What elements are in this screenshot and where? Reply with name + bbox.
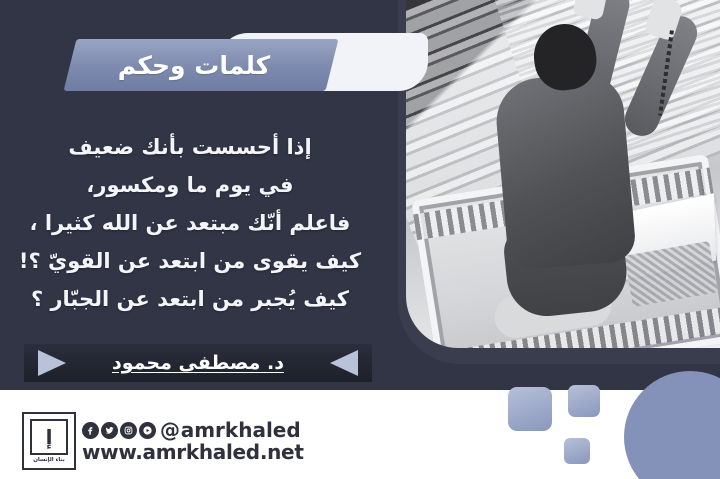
- footer-branding: ﺇ بناء الإنسان @amrkhaled www.amrkhaled.: [22, 412, 304, 470]
- brand-logo: ﺇ بناء الإنسان: [22, 412, 76, 470]
- social-handle-row: @amrkhaled: [82, 420, 304, 441]
- decorative-square-small: [564, 438, 590, 464]
- photo-artwork: [406, 0, 720, 348]
- brand-logo-subtitle: بناء الإنسان: [33, 457, 65, 463]
- decorative-square-large: [508, 387, 552, 431]
- photo-inner: [406, 0, 720, 348]
- quote-line: إذا أحسست بأنك ضعيف: [10, 128, 370, 166]
- quote-block: إذا أحسست بأنك ضعيف في يوم ما ومكسور، فا…: [10, 128, 370, 318]
- arrow-right-icon: [38, 350, 66, 376]
- social-handle-name: amrkhaled: [181, 420, 301, 441]
- quote-line: فاعلم أنّك مبتعد عن الله كثيرا ،: [10, 204, 370, 242]
- social-handle-prefix: @: [160, 420, 180, 441]
- twitter-icon[interactable]: [101, 422, 118, 439]
- brand-logo-glyph: ﺇ: [30, 419, 68, 455]
- arrow-left-icon: [330, 350, 358, 376]
- author-name: د. مصطفى محمود: [112, 352, 284, 374]
- quote-line: كيف يُجبر من ابتعد عن الجبّار ؟: [10, 280, 370, 318]
- instagram-icon[interactable]: [120, 422, 137, 439]
- banner-title: كلمات وحكم: [70, 39, 318, 91]
- quote-line: كيف يقوى من ابتعد عن القويّ ؟!: [10, 242, 370, 280]
- footer-text-block: @amrkhaled www.amrkhaled.net: [82, 420, 304, 463]
- poster-canvas: كلمات وحكم إذا أحسست بأنك ضعيف في يوم ما…: [0, 0, 720, 479]
- facebook-icon[interactable]: [82, 422, 99, 439]
- author-bar: د. مصطفى محمود: [24, 344, 372, 382]
- quote-line: في يوم ما ومكسور،: [10, 166, 370, 204]
- website-url[interactable]: www.amrkhaled.net: [82, 441, 304, 463]
- youtube-icon[interactable]: [139, 422, 156, 439]
- prayer-photo: [398, 0, 720, 372]
- photo-frame: [398, 0, 720, 364]
- decorative-square-medium: [568, 385, 600, 417]
- person-torso: [493, 71, 637, 271]
